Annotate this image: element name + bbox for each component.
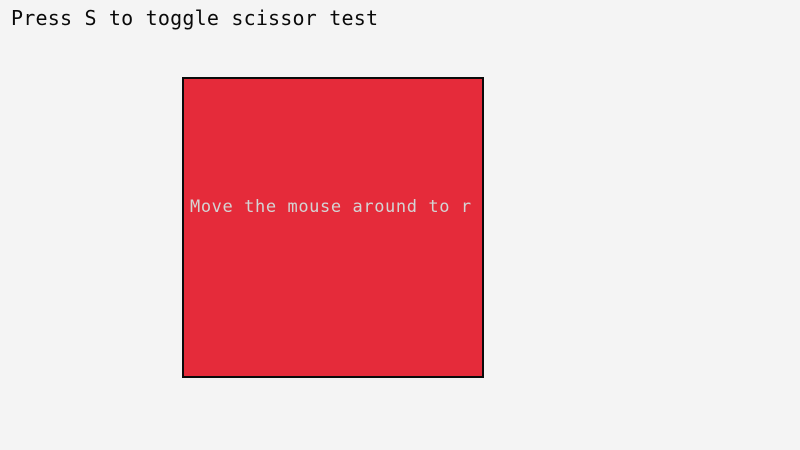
scissor-clip-region: Move the mouse around to r bbox=[184, 79, 482, 376]
scissor-test-rectangle[interactable]: Move the mouse around to r bbox=[182, 77, 484, 378]
scissor-clipped-message: Move the mouse around to r bbox=[190, 196, 482, 218]
hud-instruction-text: Press S to toggle scissor test bbox=[11, 6, 378, 30]
app-canvas[interactable]: Press S to toggle scissor test Move the … bbox=[0, 0, 800, 450]
